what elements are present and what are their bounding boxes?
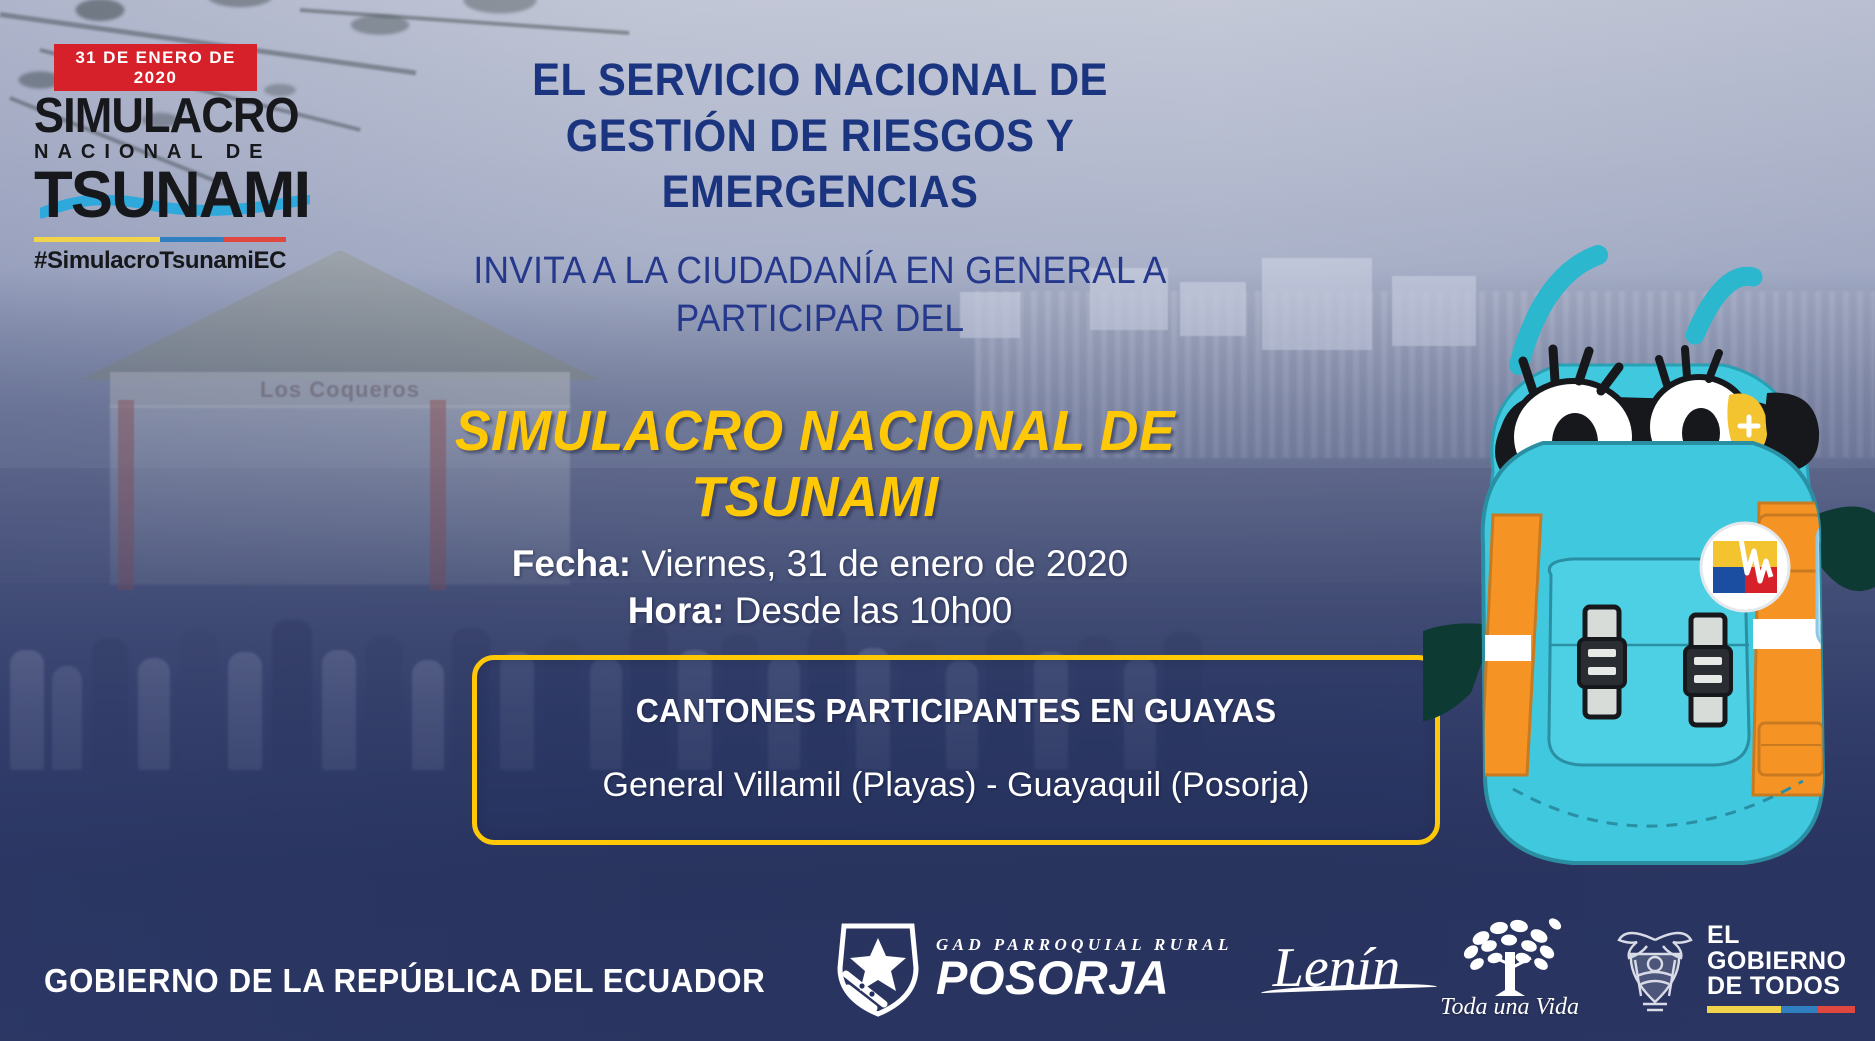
egdt-tricolor-bar — [1707, 1006, 1855, 1013]
logo-line-tsunami: TSUNAMI — [34, 161, 309, 227]
pocket-flap-bottom — [1759, 723, 1823, 775]
participants-box-body: General Villamil (Playas) - Guayaquil (P… — [477, 766, 1435, 805]
egdt-line-1: EL — [1707, 923, 1855, 949]
footer-logos: GAD PARROQUIAL RURAL POSORJA Lenín — [832, 903, 1855, 1033]
time-value: Desde las 10h00 — [724, 590, 1012, 631]
el-gobierno-de-todos-logo: EL GOBIERNO DE TODOS — [1613, 920, 1855, 1016]
toda-una-vida-logo: Toda una Vida — [1440, 916, 1579, 1021]
antenna-right — [1695, 276, 1753, 335]
ecuador-coat-of-arms-icon — [1613, 920, 1697, 1016]
logo-tricolor-bar — [34, 237, 286, 242]
tricolor-red — [1818, 1006, 1855, 1013]
tsunami-backpack-mascot — [1423, 215, 1875, 915]
buckle-right — [1685, 615, 1731, 725]
event-details: Fecha: Viernes, 31 de enero de 2020 Hora… — [410, 540, 1230, 635]
simulacro-logo: 31 DE ENERO DE 2020 SIMULACRO NACIONAL D… — [34, 44, 334, 275]
lenin-signature: Lenín — [1267, 936, 1407, 1000]
logo-hashtag: #SimulacroTsunamiEC — [34, 247, 334, 275]
tricolor-blue — [1781, 1006, 1818, 1013]
government-footer-text: GOBIERNO DE LA REPÚBLICA DEL ECUADOR — [44, 962, 765, 1000]
event-title: SIMULACRO NACIONAL DE TSUNAMI — [331, 398, 1299, 530]
posorja-logo: GAD PARROQUIAL RURAL POSORJA — [832, 916, 1233, 1020]
poster-root: Los Coqueros — [0, 0, 1875, 1041]
badge-blue — [1713, 567, 1745, 593]
headline-line-2: GESTIÓN DE RIESGOS Y EMERGENCIAS — [439, 108, 1202, 220]
tricolor-blue — [160, 237, 223, 242]
el-gobierno-wordmark: EL GOBIERNO DE TODOS — [1707, 923, 1855, 1013]
tricolor-yellow — [34, 237, 160, 242]
event-date-row: Fecha: Viernes, 31 de enero de 2020 — [410, 540, 1230, 587]
time-label: Hora: — [628, 590, 725, 631]
date-value: Viernes, 31 de enero de 2020 — [631, 543, 1128, 584]
strap-left-reflector — [1485, 635, 1531, 661]
buckle-left — [1579, 607, 1625, 717]
egdt-line-2: GOBIERNO — [1707, 949, 1855, 975]
toda-una-vida-text: Toda una Vida — [1440, 994, 1579, 1021]
egdt-line-3: DE TODOS — [1707, 974, 1855, 1000]
arm-right — [1815, 507, 1875, 592]
date-label: Fecha: — [512, 543, 631, 584]
invitation-text: INVITA A LA CIUDADANÍA EN GENERAL A PART… — [439, 248, 1202, 343]
tricolor-yellow — [1707, 1006, 1781, 1013]
posorja-wordmark: GAD PARROQUIAL RURAL POSORJA — [936, 935, 1233, 1000]
logo-date-banner: 31 DE ENERO DE 2020 — [54, 44, 257, 91]
posorja-title: POSORJA — [936, 955, 1233, 1000]
event-time-row: Hora: Desde las 10h00 — [410, 587, 1230, 634]
headline: EL SERVICIO NACIONAL DE GESTIÓN DE RIESG… — [439, 52, 1202, 219]
invitation-line-1: INVITA A LA CIUDADANÍA EN GENERAL A — [439, 248, 1202, 296]
participants-box: CANTONES PARTICIPANTES EN GUAYAS General… — [472, 655, 1440, 845]
logo-line-simulacro: SIMULACRO — [34, 93, 310, 140]
headline-line-1: EL SERVICIO NACIONAL DE — [439, 52, 1202, 108]
tricolor-red — [223, 237, 286, 242]
posorja-shield-icon — [832, 916, 924, 1020]
participants-box-title: CANTONES PARTICIPANTES EN GUAYAS — [491, 692, 1420, 730]
logo-tsunami-wrap: TSUNAMI — [34, 165, 334, 231]
tree-icon — [1451, 916, 1569, 998]
invitation-line-2: PARTICIPAR DEL — [439, 296, 1202, 344]
